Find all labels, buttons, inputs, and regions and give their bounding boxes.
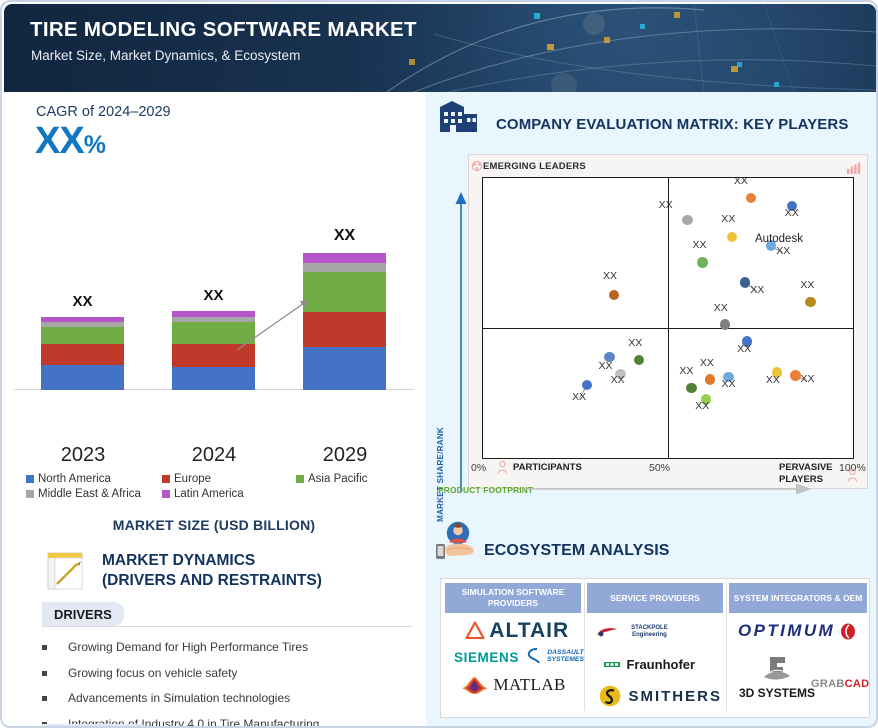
logo-grabcad: GRABCAD — [811, 674, 869, 692]
quadrant-label-emerging-leaders: EMERGING LEADERS — [483, 161, 586, 172]
bar-seg-europe-2023 — [41, 344, 124, 365]
legend-swatch-middle-east-africa — [26, 490, 34, 498]
legend-swatch-asia-pacific — [296, 475, 304, 483]
matrix-point-label: XX — [679, 365, 693, 377]
x-tick-50: 50% — [649, 462, 670, 474]
matrix-point-label: XX — [721, 213, 735, 225]
matrix-data-point[interactable] — [740, 277, 750, 287]
matrix-data-point[interactable] — [720, 319, 730, 329]
drivers-rule — [42, 626, 412, 627]
chart-x-axis-labels: 2023 2024 2029 — [4, 444, 414, 470]
legend-label-europe: Europe — [174, 473, 211, 485]
infographic-page: TIRE MODELING SOFTWARE MARKET Market Siz… — [0, 0, 878, 728]
legend-row-2: Middle East & Africa Latin America — [26, 488, 406, 500]
y-axis-arrow — [454, 192, 468, 492]
logo-3d-systems-text: 3D SYSTEMS — [737, 686, 817, 700]
market-dynamics-title-line2: (DRIVERS AND RESTRAINTS) — [102, 571, 322, 591]
matrix-title: COMPANY EVALUATION MATRIX: KEY PLAYERS — [496, 116, 848, 133]
legend-item-middle-east-africa: Middle East & Africa — [26, 488, 162, 500]
page-header: TIRE MODELING SOFTWARE MARKET Market Siz… — [4, 4, 876, 92]
matrix-point-label: XX — [800, 279, 814, 291]
page-subtitle: Market Size, Market Dynamics, & Ecosyste… — [31, 48, 300, 63]
legend-item-asia-pacific: Asia Pacific — [296, 473, 367, 485]
legend-label-latin-america: Latin America — [174, 488, 244, 500]
list-item: Advancements in Simulation technologies — [42, 691, 414, 705]
list-item: Growing Demand for High Performance Tire… — [42, 640, 414, 654]
pervasive-players-icon — [847, 469, 858, 482]
logo-dassault-systemes-text: DASSAULT SYSTEMES — [546, 649, 584, 663]
logo-fraunhofer-text: Fraunhofer — [626, 657, 695, 672]
logo-smithers: SMITHERS — [599, 685, 722, 707]
bar-2029: XX — [303, 253, 386, 390]
cluster-icon — [471, 160, 483, 172]
driver-text: Advancements in Simulation technologies — [68, 691, 290, 705]
bar-2024: XX — [172, 311, 255, 390]
logo-dassault-systemes: DASSAULT SYSTEMES — [526, 647, 584, 665]
matrix-point-label: XX — [598, 360, 612, 372]
bar-2023: XX — [41, 317, 124, 390]
matrix-x-axis-caption: PRODUCT FOOTPRINT — [438, 485, 533, 495]
matrix-data-point[interactable] — [705, 374, 715, 384]
optimum-mark-icon — [840, 623, 856, 640]
logo-altair: ALTAIR — [453, 619, 581, 643]
matrix-point-label: XX — [700, 357, 714, 369]
legend-item-north-america: North America — [26, 473, 162, 485]
legend-label-asia-pacific: Asia Pacific — [308, 473, 367, 485]
player-label-autodesk: Autodesk — [755, 233, 803, 245]
list-item: Growing focus on vehicle safety — [42, 666, 414, 680]
altair-mark-icon — [465, 621, 485, 641]
matrix-data-point[interactable] — [582, 380, 592, 390]
bar-label-2023: XX — [41, 293, 124, 310]
logo-siemens-text: SIEMENS — [454, 650, 519, 665]
3d-systems-mark-icon — [761, 655, 793, 683]
matrix-point-label: XX — [766, 374, 780, 386]
matrix-data-point[interactable] — [686, 383, 696, 393]
bar-seg-europe-2029 — [303, 312, 386, 347]
matrix-point-label: XX — [692, 239, 706, 251]
ecosystem-col-header-service: SERVICE PROVIDERS — [587, 583, 723, 613]
logo-siemens: SIEMENS — [454, 649, 519, 667]
page-title: TIRE MODELING SOFTWARE MARKET — [30, 18, 417, 42]
matrix-plot-area: XXXXXXXXXXXXXXXXXXXXXXXXXXXXXXXXXXXXXXXX… — [482, 177, 854, 459]
bullet-icon — [42, 696, 47, 701]
legend-swatch-north-america — [26, 475, 34, 483]
matrix-point-label: XX — [572, 391, 586, 403]
logo-matlab: MATLAB — [461, 674, 566, 696]
logo-stackpole-text: STACKPOLE Engineering — [622, 625, 676, 638]
drivers-heading: DRIVERS — [42, 602, 124, 626]
cagr-label: CAGR of 2024–2029 — [36, 104, 171, 120]
market-dynamics-title-line1: MARKET DYNAMICS — [102, 551, 322, 571]
logo-altair-text: ALTAIR — [489, 619, 569, 642]
list-item: Integration of Industry 4.0 in Tire Manu… — [42, 717, 414, 728]
restraints-heading: RESTRAINTS — [42, 724, 149, 728]
ecosystem-col-header-integrators: SYSTEM INTEGRATORS & OEM — [729, 583, 867, 613]
chart-legend: North America Europe Asia Pacific Middle… — [26, 473, 406, 503]
logo-smithers-text: SMITHERS — [628, 688, 722, 705]
bar-seg-asia-pacific-2024 — [172, 322, 255, 344]
bullet-icon — [42, 645, 47, 650]
hand-person-icon — [434, 520, 478, 564]
logo-optimum: OPTIMUM — [738, 621, 856, 641]
legend-row-1: North America Europe Asia Pacific — [26, 473, 406, 485]
matrix-point-label: XX — [722, 378, 736, 390]
logo-matlab-text: MATLAB — [493, 675, 565, 694]
market-size-chart: XX XX XX — [4, 152, 424, 402]
bar-seg-north-america-2023 — [41, 365, 124, 390]
matrix-data-point[interactable] — [727, 232, 737, 242]
bar-seg-latin-america-2029 — [303, 253, 386, 263]
ecosystem-table: SIMULATION SOFTWARE PROVIDERS SERVICE PR… — [440, 578, 870, 718]
matrix-y-axis-label: MARKET SHARE/RANK — [436, 427, 445, 522]
bar-chart-icon — [846, 162, 861, 174]
market-dynamics-title: MARKET DYNAMICS (DRIVERS AND RESTRAINTS) — [102, 551, 322, 591]
stackpole-mark-icon — [596, 625, 618, 639]
company-evaluation-matrix: EMERGING LEADERS XXXXXXXXXXXXXXXXXXXXXXX… — [468, 154, 868, 489]
ecosystem-title: ECOSYSTEM ANALYSIS — [484, 542, 670, 560]
matrix-point-label: XX — [734, 175, 748, 187]
matrix-point-label: XX — [611, 374, 625, 386]
x-axis-arrow — [522, 482, 812, 496]
matlab-mark-icon — [461, 674, 489, 696]
legend-item-europe: Europe — [162, 473, 296, 485]
legend-swatch-europe — [162, 475, 170, 483]
bar-label-2029: XX — [303, 227, 386, 245]
fraunhofer-mark-icon — [604, 660, 620, 669]
bar-seg-mea-2029 — [303, 263, 386, 272]
legend-item-latin-america: Latin America — [162, 488, 244, 500]
bullet-icon — [42, 671, 47, 676]
x-zone-participants: PARTICIPANTS — [513, 462, 582, 473]
matrix-point-label: XX — [800, 373, 814, 385]
chart-title: MARKET SIZE (USD BILLION) — [4, 517, 424, 533]
notepad-icon — [44, 550, 90, 592]
bar-seg-asia-pacific-2023 — [41, 327, 124, 344]
legend-label-north-america: North America — [38, 473, 111, 485]
matrix-point-label: XX — [628, 337, 642, 349]
matrix-point-label: XX — [695, 400, 709, 412]
ecosystem-divider-2 — [726, 583, 727, 711]
driver-text: Growing Demand for High Performance Tire… — [68, 640, 308, 654]
matrix-data-point[interactable] — [805, 297, 815, 307]
left-column: CAGR of 2024–2029 XX% XX XX — [4, 92, 424, 728]
legend-label-middle-east-africa: Middle East & Africa — [38, 488, 141, 500]
participant-icon — [497, 461, 508, 474]
logo-stackpole-engineering: STACKPOLE Engineering — [596, 623, 676, 641]
logo-grabcad-text: GRABCAD — [811, 678, 869, 690]
x-tick-0: 0% — [471, 462, 486, 474]
driver-text: Growing focus on vehicle safety — [68, 666, 237, 680]
matrix-point-label: XX — [737, 343, 751, 355]
smithers-mark-icon — [599, 685, 621, 707]
bar-seg-asia-pacific-2029 — [303, 272, 386, 312]
matrix-data-point[interactable] — [634, 355, 644, 365]
ecosystem-col-header-simulation: SIMULATION SOFTWARE PROVIDERS — [445, 583, 581, 613]
logo-optimum-text: OPTIMUM — [738, 621, 835, 640]
matrix-data-point[interactable] — [790, 370, 800, 380]
x-tick-2029: 2029 — [290, 444, 400, 467]
matrix-data-point[interactable] — [697, 257, 707, 267]
bar-label-2024: XX — [172, 287, 255, 304]
logo-3d-systems: 3D SYSTEMS — [737, 655, 817, 700]
matrix-point-label: XX — [750, 284, 764, 296]
matrix-point-label: XX — [659, 199, 673, 211]
dassault-mark-icon — [526, 648, 542, 664]
matrix-data-point[interactable] — [609, 290, 619, 300]
matrix-data-point[interactable] — [682, 215, 692, 225]
x-tick-2024: 2024 — [159, 444, 269, 467]
matrix-point-label: XX — [603, 270, 617, 282]
logo-fraunhofer: Fraunhofer — [604, 656, 695, 674]
building-icon — [438, 101, 480, 135]
matrix-points-layer: XXXXXXXXXXXXXXXXXXXXXXXXXXXXXXXXXXXXXXXX… — [483, 178, 853, 458]
bar-seg-north-america-2029 — [303, 347, 386, 390]
legend-swatch-latin-america — [162, 490, 170, 498]
bar-seg-europe-2024 — [172, 344, 255, 367]
x-tick-2023: 2023 — [28, 444, 138, 467]
drivers-list: Growing Demand for High Performance Tire… — [42, 640, 414, 728]
matrix-data-point[interactable] — [746, 193, 756, 203]
matrix-point-label: XX — [776, 245, 790, 257]
matrix-point-label: XX — [714, 302, 728, 314]
matrix-point-label: XX — [785, 207, 799, 219]
driver-text: Integration of Industry 4.0 in Tire Manu… — [68, 717, 319, 728]
bar-seg-north-america-2024 — [172, 367, 255, 390]
